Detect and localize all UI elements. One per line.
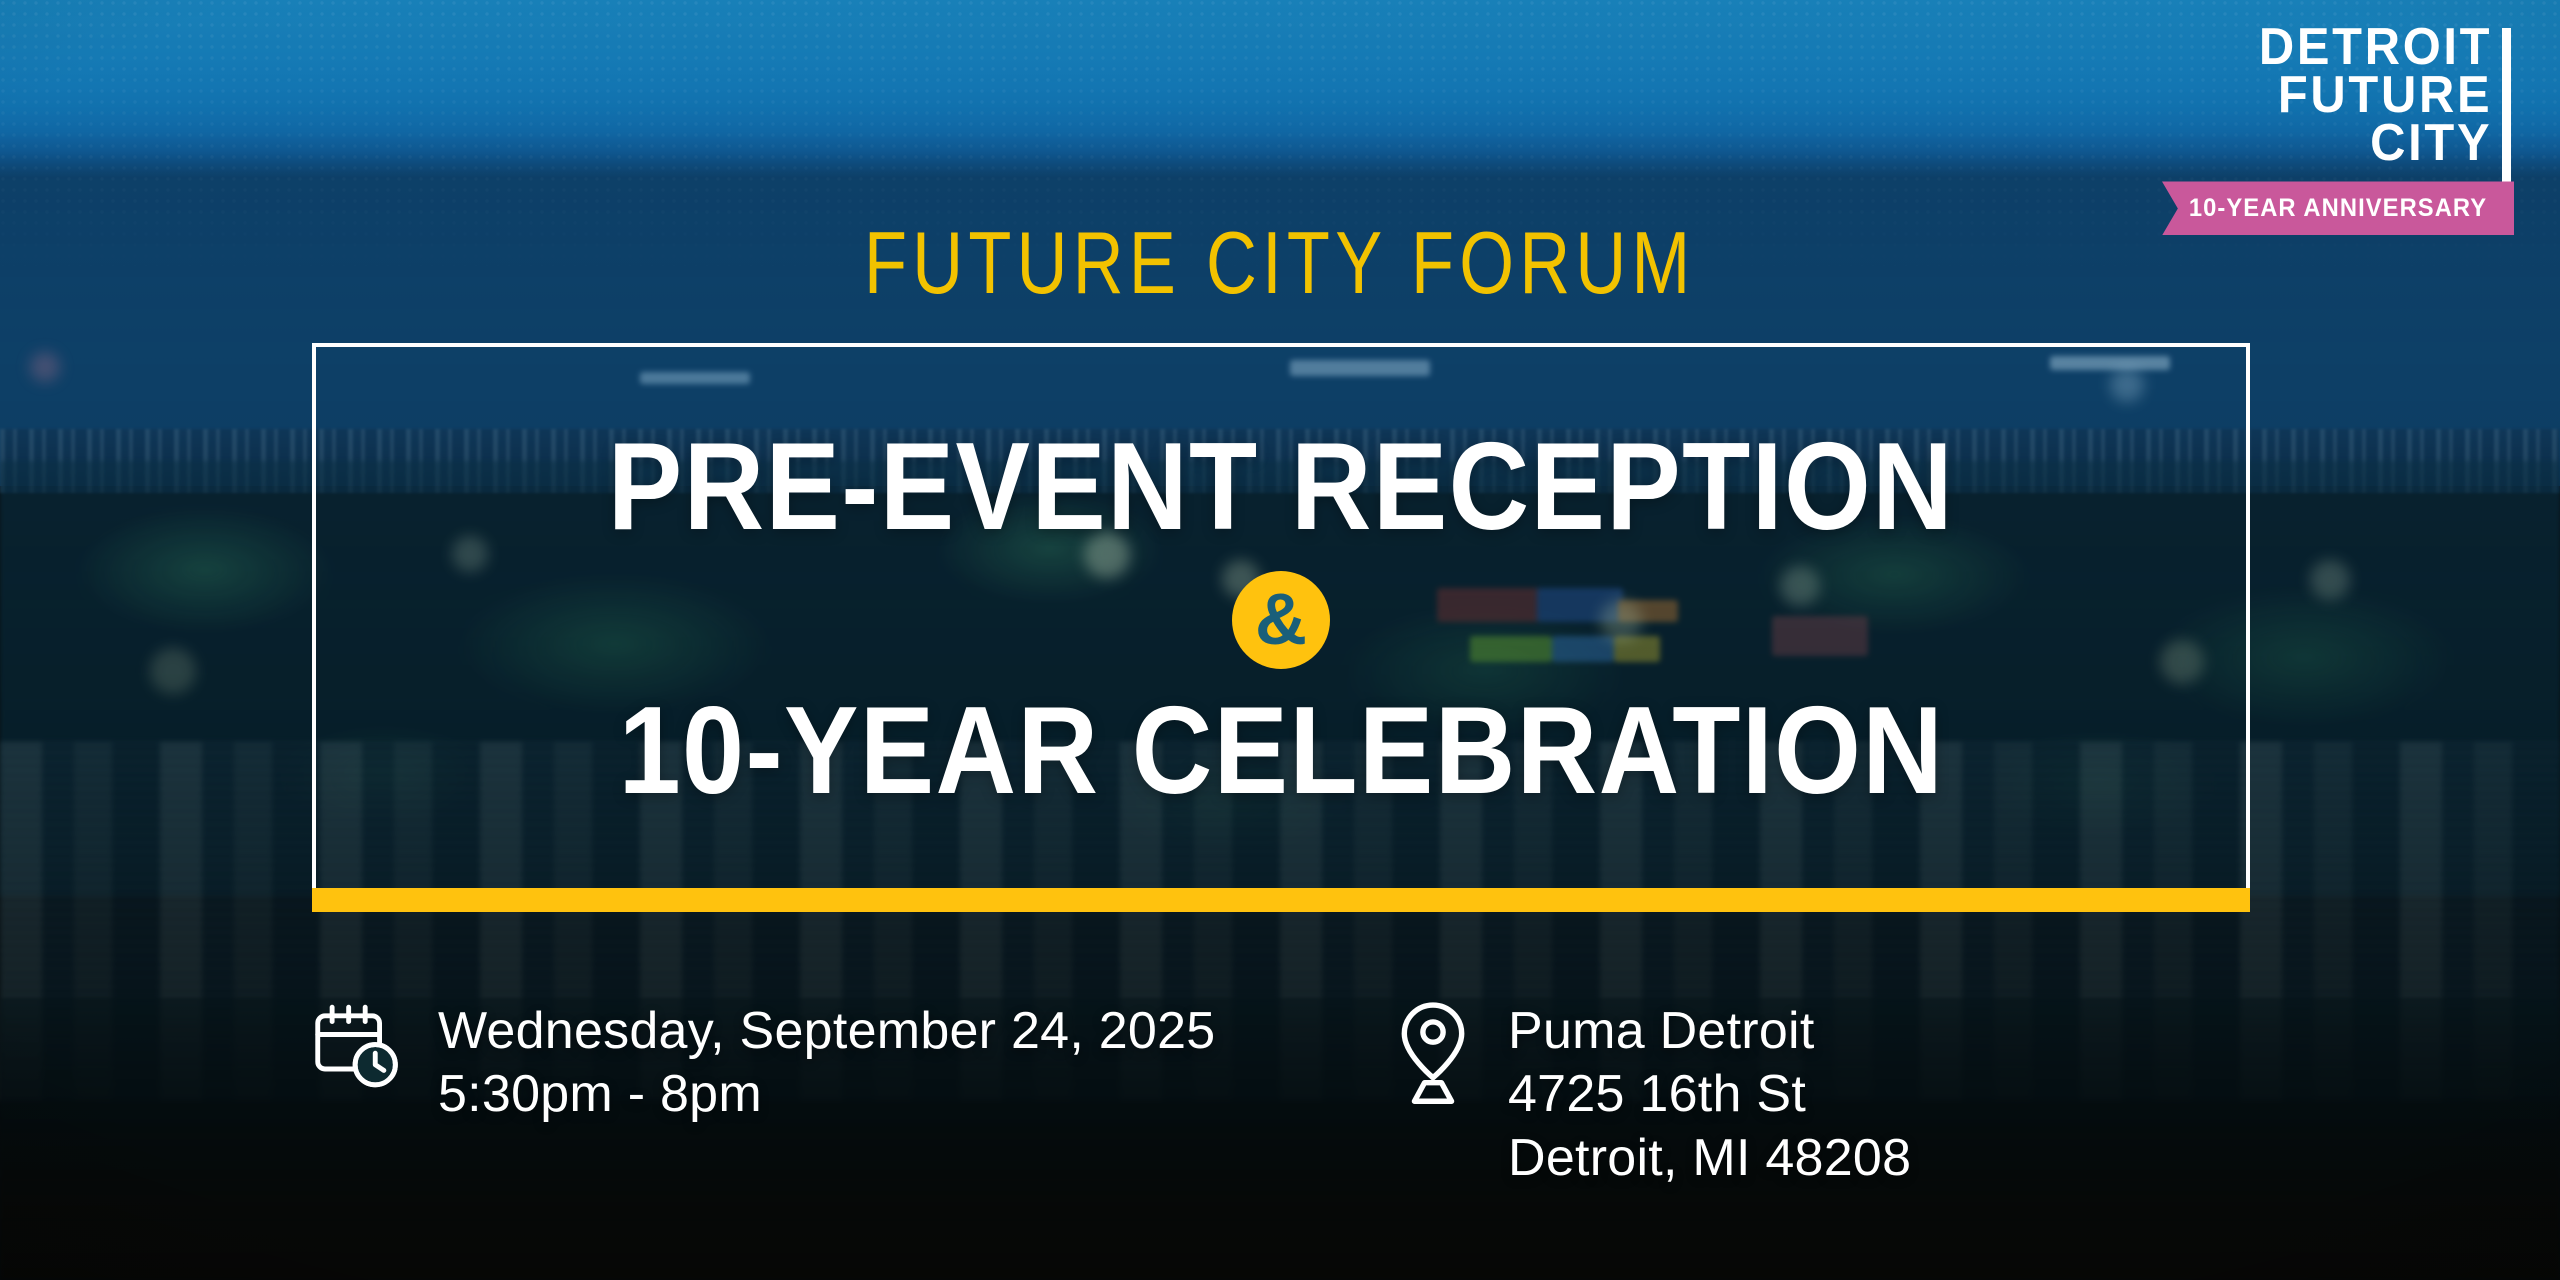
logo-wordmark: DETROIT FUTURE CITY	[2244, 24, 2514, 167]
detail-location-text: Puma Detroit 4725 16th St Detroit, MI 48…	[1508, 1000, 1911, 1190]
detail-date-time: Wednesday, September 24, 2025 5:30pm - 8…	[312, 1000, 1392, 1190]
anniversary-ribbon-label: 10-YEAR ANNIVERSARY	[2189, 194, 2487, 223]
detail-date-text: Wednesday, September 24, 2025 5:30pm - 8…	[438, 1000, 1215, 1127]
dfc-logo[interactable]: DETROIT FUTURE CITY 10-YEAR ANNIVERSARY	[2154, 24, 2514, 235]
headline-line-2: 10-YEAR CELEBRATION	[618, 689, 1944, 813]
detail-location: Puma Detroit 4725 16th St Detroit, MI 48…	[1392, 1000, 2248, 1190]
logo-t-stem-icon	[2502, 28, 2511, 188]
time-line: 5:30pm - 8pm	[438, 1063, 1215, 1126]
venue-name-line: Puma Detroit	[1508, 1000, 1911, 1063]
calendar-clock-icon	[312, 1000, 404, 1092]
logo-line-city: CITY	[2259, 120, 2492, 168]
eyebrow-title-text: FUTURE CITY FORUM	[864, 212, 1696, 314]
logo-line-detroit: DETROIT	[2259, 24, 2492, 72]
logo-line-future: FUTURE	[2259, 72, 2492, 120]
anniversary-ribbon: 10-YEAR ANNIVERSARY	[2162, 181, 2514, 235]
event-banner: DETROIT FUTURE CITY 10-YEAR ANNIVERSARY …	[0, 0, 2560, 1280]
headline-line-1: PRE-EVENT RECEPTION	[608, 425, 1954, 549]
map-pin-icon	[1392, 1000, 1474, 1108]
ampersand-badge: &	[1232, 571, 1330, 669]
event-details: Wednesday, September 24, 2025 5:30pm - 8…	[312, 1000, 2248, 1190]
street-address-line: 4725 16th St	[1508, 1063, 1911, 1126]
city-state-zip-line: Detroit, MI 48208	[1508, 1127, 1911, 1190]
ampersand-glyph: &	[1255, 584, 1307, 656]
date-line: Wednesday, September 24, 2025	[438, 1000, 1215, 1063]
headline-group: PRE-EVENT RECEPTION & 10-YEAR CELEBRATIO…	[312, 343, 2250, 895]
